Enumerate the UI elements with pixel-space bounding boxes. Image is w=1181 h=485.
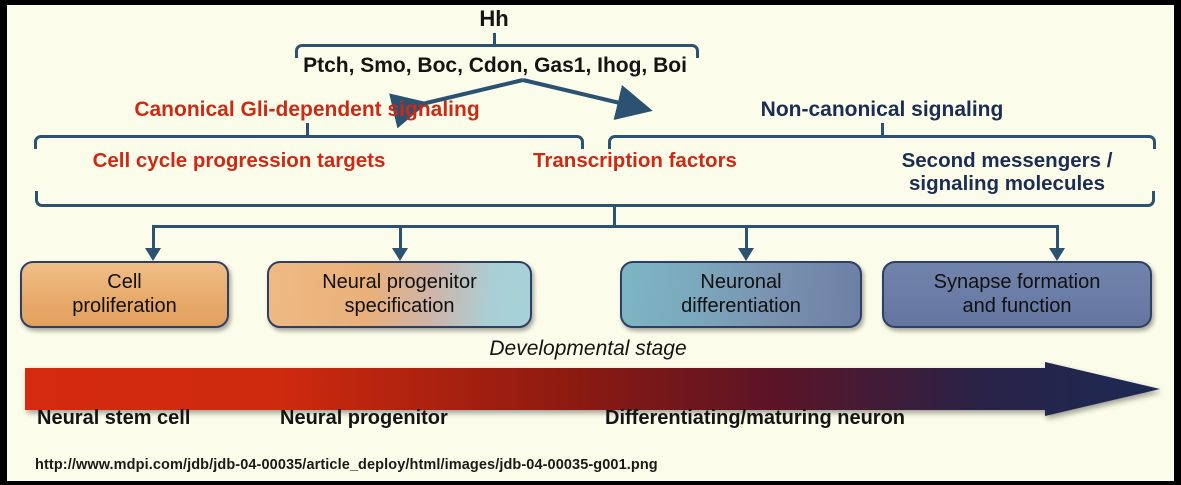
outcome-box-synapse-formation[interactable]: Synapse formation and function	[882, 261, 1152, 328]
developmental-stage-arrow	[25, 362, 1160, 421]
outcome-arrow-4	[1049, 248, 1065, 261]
noncanonical-branch-arrow	[519, 77, 659, 119]
outcome-1-line2: proliferation	[72, 295, 177, 318]
outcome-box-neuronal-differentiation[interactable]: Neuronal differentiation	[620, 261, 862, 328]
outcome-3-line1: Neuronal	[681, 271, 801, 294]
effector-collector-bracket	[35, 191, 1155, 207]
noncanonical-effector-bracket	[608, 135, 1156, 149]
stage-label-neural-stem-cell: Neural stem cell	[37, 407, 190, 429]
outcome-arrow-1	[145, 248, 161, 261]
outcome-box-cell-proliferation[interactable]: Cell proliferation	[20, 261, 229, 328]
outcome-2-line2: specification	[322, 295, 477, 318]
outcome-1-line1: Cell	[72, 271, 177, 294]
outcome-4-line1: Synapse formation	[934, 271, 1101, 294]
effector-label-secondmessengers: Second messengers / signaling molecules	[902, 150, 1113, 196]
canonical-effector-bracket	[34, 135, 584, 149]
receptors-label: Ptch, Smo, Boc, Cdon, Gas1, Ihog, Boi	[303, 54, 687, 78]
figure-canvas: Hh Ptch, Smo, Boc, Cdon, Gas1, Ihog, Boi	[7, 5, 1174, 481]
outcome-4-line2: and function	[934, 295, 1101, 318]
outcome-3-line2: differentiation	[681, 295, 801, 318]
outcome-2-line1: Neural progenitor	[322, 271, 477, 294]
stage-label-differentiating-neuron: Differentiating/maturing neuron	[605, 407, 905, 429]
collector-stem	[613, 205, 616, 227]
effector-label-cellcycle: Cell cycle progression targets	[93, 150, 386, 173]
stage-label-neural-progenitor: Neural progenitor	[280, 407, 448, 429]
branch-label-canonical: Canonical Gli-dependent signaling	[134, 98, 479, 122]
effector-secondmessengers-line1: Second messengers /	[902, 150, 1113, 173]
ligand-label: Hh	[479, 7, 508, 32]
outcome-arrow-2	[392, 248, 408, 261]
effector-label-transcription: Transcription factors	[533, 150, 737, 173]
outcome-box-neural-progenitor-specification[interactable]: Neural progenitor specification	[267, 261, 532, 328]
figure-frame: Hh Ptch, Smo, Boc, Cdon, Gas1, Ihog, Boi	[0, 0, 1181, 485]
developmental-stage-label: Developmental stage	[489, 337, 686, 361]
source-url-caption: http://www.mdpi.com/jdb/jdb-04-00035/art…	[35, 457, 658, 473]
outcome-distribution-bar	[152, 225, 1059, 228]
branch-label-noncanonical: Non-canonical signaling	[761, 98, 1004, 122]
outcome-arrow-3	[738, 248, 754, 261]
